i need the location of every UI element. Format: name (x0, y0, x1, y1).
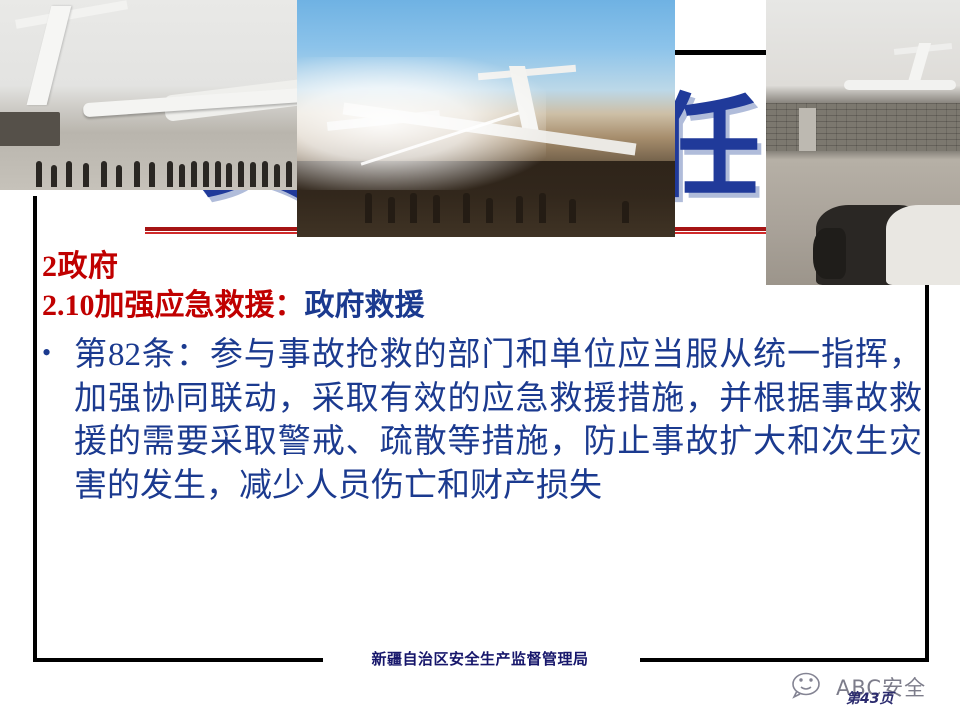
bullet-item: • 第82条：参与事故抢救的部门和单位应当服从统一指挥，加强协同联动，采取有效的… (42, 334, 922, 508)
subsection-blue-text: 政府救援 (305, 289, 425, 322)
bullet-body-text: 第82条：参与事故抢救的部门和单位应当服从统一指挥，加强协同联动，采取有效的应急… (74, 334, 922, 508)
footer-organization: 新疆自治区安全生产监督管理局 (371, 648, 588, 669)
page-number: 第43页 (846, 688, 893, 708)
airplane-crash-crowd-photo (0, 0, 298, 190)
slide-canvas: 责 任 (0, 0, 960, 720)
bullet-marker: • (42, 334, 74, 370)
airplane-behind-wall-cows-photo (766, 0, 960, 285)
slide-body: 2政府 2.10加强应急救援：政府救援 • 第82条：参与事故抢救的部门和单位应… (42, 248, 922, 509)
subsection-red-text: 加强应急救援： (95, 289, 305, 322)
airplane-crash-firefighting-photo (297, 0, 675, 237)
wechat-logo-icon (790, 670, 834, 704)
section-heading: 2政府 (42, 248, 922, 285)
subsection-number: 2.10 (42, 289, 95, 322)
frame-left-line (33, 196, 37, 662)
frame-right-line (925, 280, 929, 662)
subsection-heading: 2.10加强应急救援：政府救援 (42, 287, 922, 324)
